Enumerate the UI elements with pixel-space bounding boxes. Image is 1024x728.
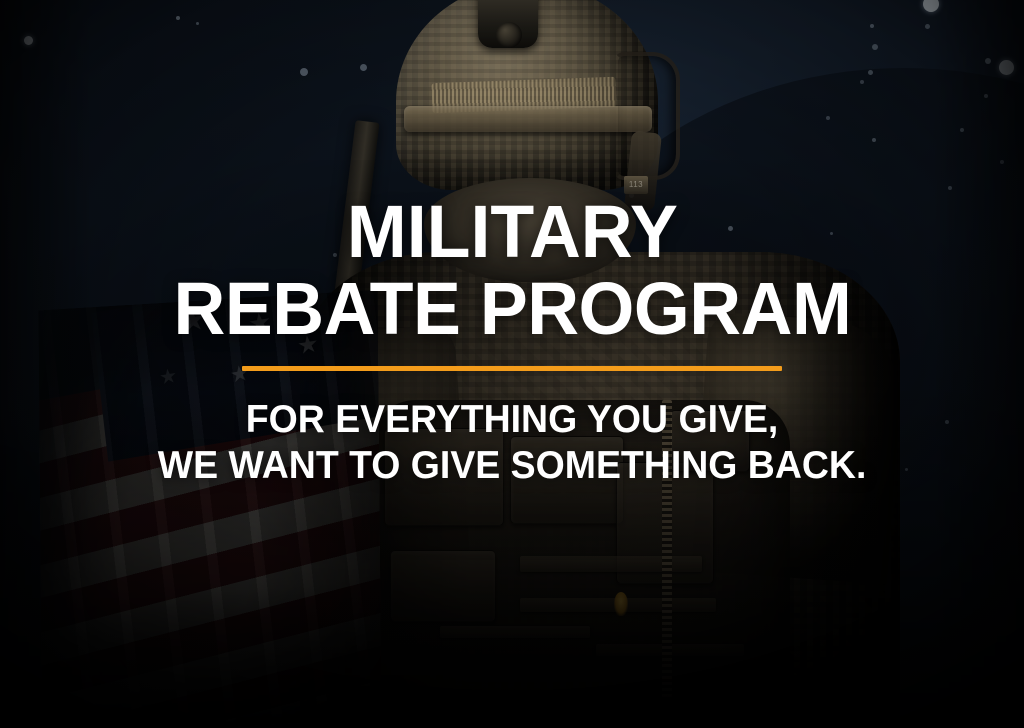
headline-line-1: MILITARY bbox=[173, 196, 851, 267]
headline: MILITARY REBATE PROGRAM bbox=[173, 196, 851, 344]
subheadline-line-2: WE WANT TO GIVE SOMETHING BACK. bbox=[158, 443, 867, 489]
headline-line-2: REBATE PROGRAM bbox=[173, 273, 851, 344]
subheadline-line-1: FOR EVERYTHING YOU GIVE, bbox=[158, 397, 867, 443]
subheadline: FOR EVERYTHING YOU GIVE, WE WANT TO GIVE… bbox=[158, 397, 867, 488]
military-rebate-banner: 113 ★ ★ ★ ★ ★ ★ MILITARY REBATE PROGRAM … bbox=[0, 0, 1024, 728]
accent-divider bbox=[242, 366, 782, 371]
banner-content: MILITARY REBATE PROGRAM FOR EVERYTHING Y… bbox=[0, 0, 1024, 728]
